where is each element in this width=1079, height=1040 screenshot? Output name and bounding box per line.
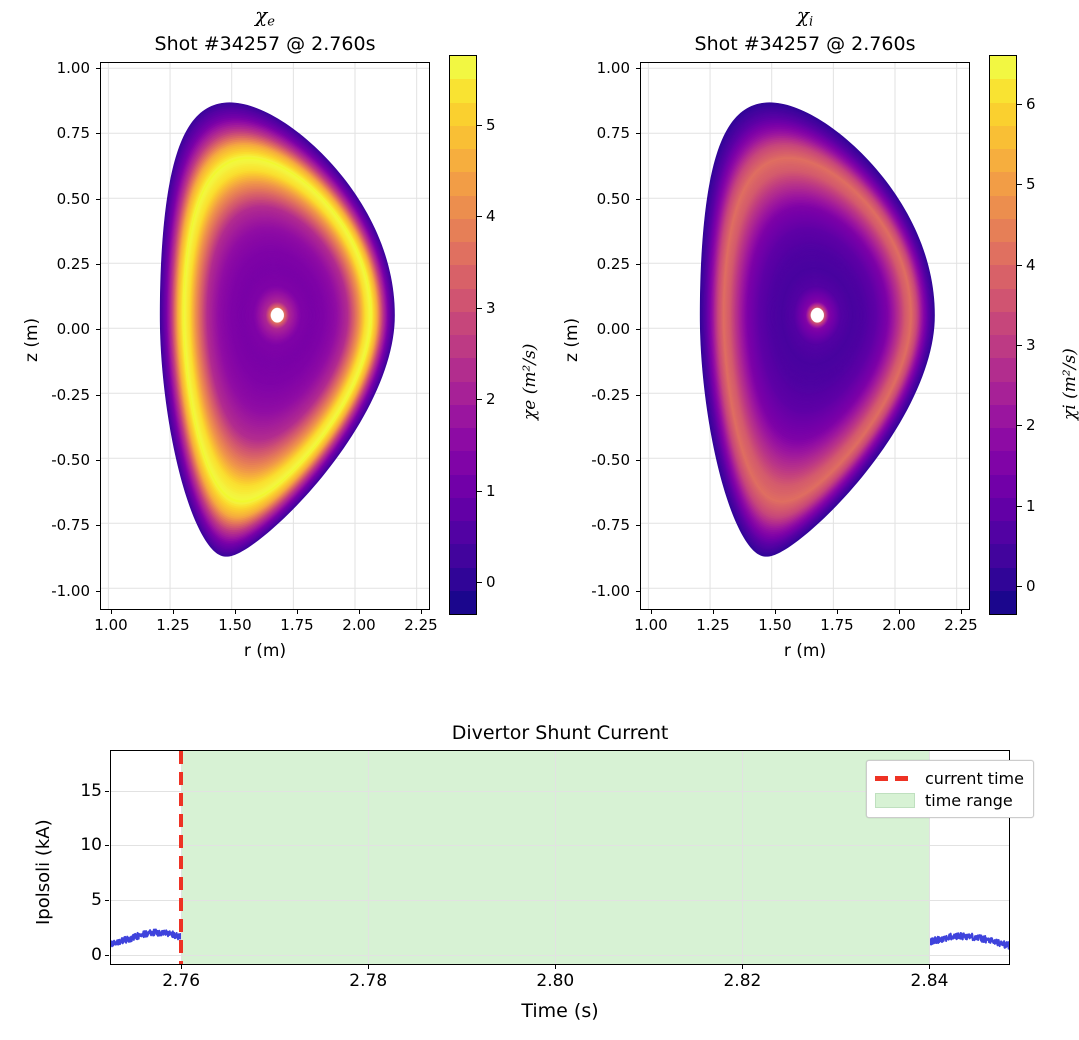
colorbar-band xyxy=(450,334,476,359)
colorbar-band xyxy=(990,380,1016,405)
colorbar-ticklabel: 1 xyxy=(486,482,496,500)
colorbar-tick xyxy=(1017,265,1022,266)
colorbar-band xyxy=(990,287,1016,312)
colorbar-tick xyxy=(1017,104,1022,105)
gridline xyxy=(111,955,1009,956)
ticklabel: 2.78 xyxy=(349,971,387,991)
colorbar-band xyxy=(450,287,476,312)
colorbar-ticklabel: 3 xyxy=(486,299,496,317)
chi-e-panel-title: χe Shot #34257 @ 2.760s xyxy=(100,4,430,55)
current-time-key xyxy=(875,770,915,786)
colorbar-band xyxy=(990,78,1016,103)
colorbar-band xyxy=(450,171,476,196)
timetrace-legend[interactable]: current time time range xyxy=(866,760,1034,818)
colorbar-band xyxy=(450,357,476,382)
colorbar-band xyxy=(450,403,476,428)
chi-i-ylabel: z (m) xyxy=(562,318,582,362)
colorbar-ticklabel: 5 xyxy=(486,116,496,134)
colorbar-band xyxy=(450,589,476,614)
magnetic-axis-hole xyxy=(811,308,824,322)
colorbar-band xyxy=(990,427,1016,452)
tick xyxy=(368,965,369,969)
colorbar-band xyxy=(450,310,476,335)
colorbar-band xyxy=(990,101,1016,126)
colorbar-band xyxy=(450,566,476,591)
magnetic-axis-hole xyxy=(271,308,284,322)
colorbar-band xyxy=(450,101,476,126)
chi-i-colorbar[interactable] xyxy=(989,55,1017,615)
figure-root: χe Shot #34257 @ 2.760s 1.00 1.25 1.50 1… xyxy=(0,0,1079,1040)
tick xyxy=(181,965,182,969)
chi-e-symbol: χe xyxy=(255,3,275,27)
colorbar-ticklabel: 2 xyxy=(1026,416,1036,434)
colorbar-band xyxy=(450,194,476,219)
colorbar-band xyxy=(450,427,476,452)
colorbar-band xyxy=(450,241,476,266)
ticklabel: 15 xyxy=(62,781,102,801)
chi-e-shot-label: Shot #34257 @ 2.760s xyxy=(155,33,376,55)
colorbar-band xyxy=(450,264,476,289)
colorbar-ticklabel: 5 xyxy=(1026,175,1036,193)
ticklabel: 2.76 xyxy=(162,971,200,991)
colorbar-band xyxy=(450,543,476,568)
colorbar-band xyxy=(990,55,1016,79)
tick xyxy=(742,965,743,969)
colorbar-band xyxy=(990,589,1016,614)
colorbar-tick xyxy=(1017,184,1022,185)
colorbar-band xyxy=(990,450,1016,475)
chi-e-colorbar-gradient xyxy=(450,56,476,614)
gridline xyxy=(555,751,556,964)
ticklabel: 2.84 xyxy=(911,971,949,991)
colorbar-band xyxy=(990,194,1016,219)
colorbar-band xyxy=(450,148,476,173)
colorbar-band xyxy=(450,217,476,242)
gridline xyxy=(368,751,369,964)
timetrace-xlabel: Time (s) xyxy=(521,1000,598,1022)
colorbar-band xyxy=(990,310,1016,335)
colorbar-tick xyxy=(477,216,482,217)
colorbar-tick xyxy=(477,582,482,583)
chi-e-xlabel: r (m) xyxy=(244,641,286,661)
colorbar-band xyxy=(450,380,476,405)
colorbar-band xyxy=(450,520,476,545)
chi-e-axes[interactable] xyxy=(100,62,430,610)
colorbar-band xyxy=(990,473,1016,498)
colorbar-ticklabel: 4 xyxy=(486,207,496,225)
colorbar-band xyxy=(990,217,1016,242)
colorbar-band xyxy=(990,403,1016,428)
tick xyxy=(105,955,109,956)
chi-e-colorbar[interactable] xyxy=(449,55,477,615)
ticklabel: 0 xyxy=(62,945,102,965)
colorbar-ticklabel: 1 xyxy=(1026,497,1036,515)
chi-i-colorbar-gradient xyxy=(990,56,1016,614)
tick xyxy=(929,965,930,969)
legend-item-time-range[interactable]: time range xyxy=(875,789,1024,811)
colorbar-band xyxy=(450,55,476,79)
legend-label-time-range: time range xyxy=(925,791,1013,810)
colorbar-ticklabel: 2 xyxy=(486,390,496,408)
colorbar-band xyxy=(990,496,1016,521)
ticklabel: 2.82 xyxy=(723,971,761,991)
colorbar-tick xyxy=(477,308,482,309)
tick xyxy=(105,845,109,846)
ticklabel: 5 xyxy=(62,890,102,910)
chi-i-contour-plot xyxy=(641,63,969,609)
gridline xyxy=(742,751,743,964)
colorbar-tick xyxy=(1017,425,1022,426)
timetrace-title: Divertor Shunt Current xyxy=(110,722,1010,744)
gridline xyxy=(111,900,1009,901)
chi-i-panel-title: χi Shot #34257 @ 2.760s xyxy=(640,4,970,55)
colorbar-tick xyxy=(1017,345,1022,346)
time-range-key xyxy=(875,792,915,808)
tick xyxy=(105,791,109,792)
colorbar-ticklabel: 6 xyxy=(1026,95,1036,113)
colorbar-band xyxy=(990,357,1016,382)
chi-e-colorbar-label: χe (m²/s) xyxy=(520,344,540,420)
colorbar-ticklabel: 0 xyxy=(1026,577,1036,595)
colorbar-ticklabel: 4 xyxy=(1026,256,1036,274)
colorbar-band xyxy=(450,124,476,149)
colorbar-band xyxy=(990,171,1016,196)
current-time-line xyxy=(179,751,184,964)
colorbar-band xyxy=(450,473,476,498)
colorbar-ticklabel: 0 xyxy=(486,573,496,591)
colorbar-band xyxy=(990,241,1016,266)
chi-i-colorbar-label: χi (m²/s) xyxy=(1060,348,1079,420)
tick xyxy=(555,965,556,969)
colorbar-band xyxy=(450,450,476,475)
gridline xyxy=(111,845,1009,846)
colorbar-band xyxy=(990,334,1016,359)
colorbar-band xyxy=(990,543,1016,568)
colorbar-band xyxy=(450,78,476,103)
colorbar-band xyxy=(990,148,1016,173)
tick xyxy=(105,900,109,901)
ticklabel: 10 xyxy=(62,835,102,855)
colorbar-tick xyxy=(1017,586,1022,587)
colorbar-ticklabel: 3 xyxy=(1026,336,1036,354)
colorbar-band xyxy=(990,566,1016,591)
chi-i-symbol: χi xyxy=(797,3,813,27)
colorbar-band xyxy=(990,124,1016,149)
colorbar-tick xyxy=(477,491,482,492)
ticklabel: 2.80 xyxy=(536,971,574,991)
timetrace-ylabel: Ipolsoli (kA) xyxy=(33,819,54,925)
chi-e-contour-plot xyxy=(101,63,429,609)
colorbar-tick xyxy=(477,125,482,126)
chi-i-axes[interactable] xyxy=(640,62,970,610)
colorbar-band xyxy=(450,496,476,521)
chi-e-ylabel: z (m) xyxy=(22,318,42,362)
legend-item-current-time[interactable]: current time xyxy=(875,767,1024,789)
colorbar-tick xyxy=(477,399,482,400)
chi-i-xlabel: r (m) xyxy=(784,641,826,661)
colorbar-tick xyxy=(1017,506,1022,507)
colorbar-band xyxy=(990,520,1016,545)
chi-i-shot-label: Shot #34257 @ 2.760s xyxy=(695,33,916,55)
colorbar-band xyxy=(990,264,1016,289)
legend-label-current-time: current time xyxy=(925,769,1024,788)
